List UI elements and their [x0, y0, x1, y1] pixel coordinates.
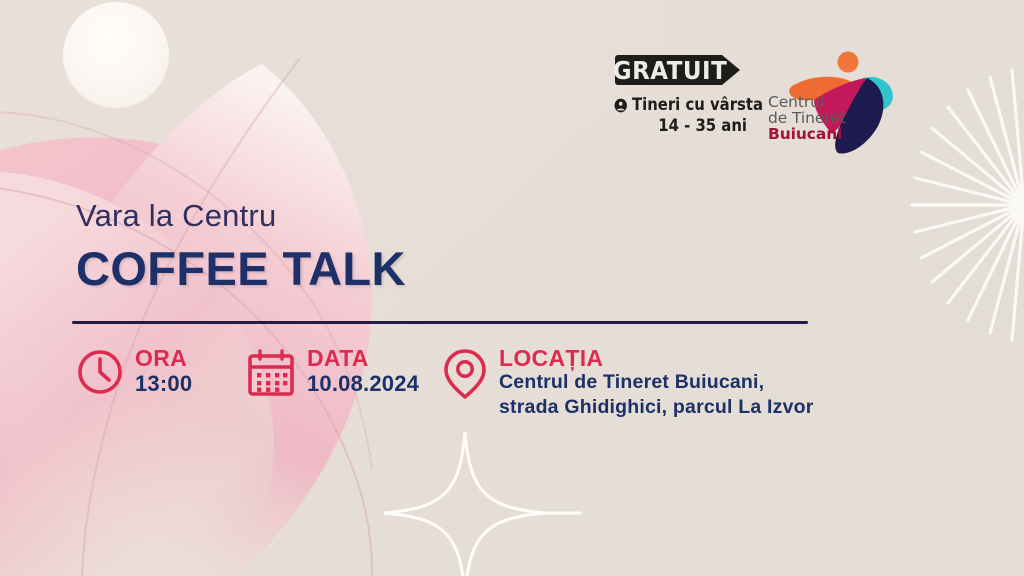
- person-icon: [614, 98, 628, 113]
- white-circle: [63, 2, 169, 108]
- location-label: LOCAȚIA: [499, 346, 814, 370]
- event-poster: GRATUIT Tineri cu vârsta 14 - 35 ani: [0, 0, 1024, 576]
- detail-location-text: LOCAȚIA Centrul de Tineret Buiucani, str…: [499, 344, 814, 420]
- centrul-de-tineret-logo: Centrul de Tineret Buiucani: [766, 48, 898, 160]
- location-value-line-2: strada Ghidighici, parcul La Izvor: [499, 396, 814, 420]
- map-pin-icon: [442, 348, 488, 400]
- logo-line-1: Centrul: [768, 94, 846, 110]
- detail-date-text: DATA 10.08.2024: [307, 344, 419, 397]
- detail-time-text: ORA 13:00: [135, 344, 192, 397]
- gratuit-label: GRATUIT: [618, 52, 721, 88]
- headline-block: Vara la Centru COFFEE TALK: [76, 200, 836, 292]
- calendar-icon: [246, 348, 296, 398]
- detail-location: LOCAȚIA Centrul de Tineret Buiucani, str…: [442, 344, 872, 420]
- location-value-line-1: Centrul de Tineret Buiucani,: [499, 371, 814, 395]
- audience-line-2: 14 - 35 ani: [627, 116, 747, 135]
- time-value: 13:00: [135, 371, 192, 397]
- gratuit-banner: GRATUIT: [614, 52, 742, 88]
- logo-line-3: Buiucani: [768, 126, 846, 142]
- logo-head: [838, 52, 859, 73]
- audience-text-1: Tineri cu vârsta: [632, 96, 763, 114]
- date-value: 10.08.2024: [307, 371, 419, 397]
- logo-wordmark: Centrul de Tineret Buiucani: [768, 94, 846, 142]
- clock-icon: [76, 348, 124, 396]
- date-label: DATA: [307, 346, 419, 370]
- detail-date: DATA 10.08.2024: [246, 344, 442, 398]
- gratuit-block: GRATUIT Tineri cu vârsta 14 - 35 ani: [614, 48, 754, 135]
- event-kicker: Vara la Centru: [76, 200, 836, 231]
- audience-line-1: Tineri cu vârsta: [614, 96, 740, 114]
- logo-line-2: de Tineret: [768, 110, 846, 126]
- detail-time: ORA 13:00: [76, 344, 246, 397]
- event-details-row: ORA 13:00: [76, 344, 872, 420]
- event-title: COFFEE TALK: [76, 245, 836, 292]
- time-label: ORA: [135, 346, 192, 370]
- horizontal-divider: [72, 321, 808, 324]
- badge-cluster: GRATUIT Tineri cu vârsta 14 - 35 ani: [614, 48, 904, 163]
